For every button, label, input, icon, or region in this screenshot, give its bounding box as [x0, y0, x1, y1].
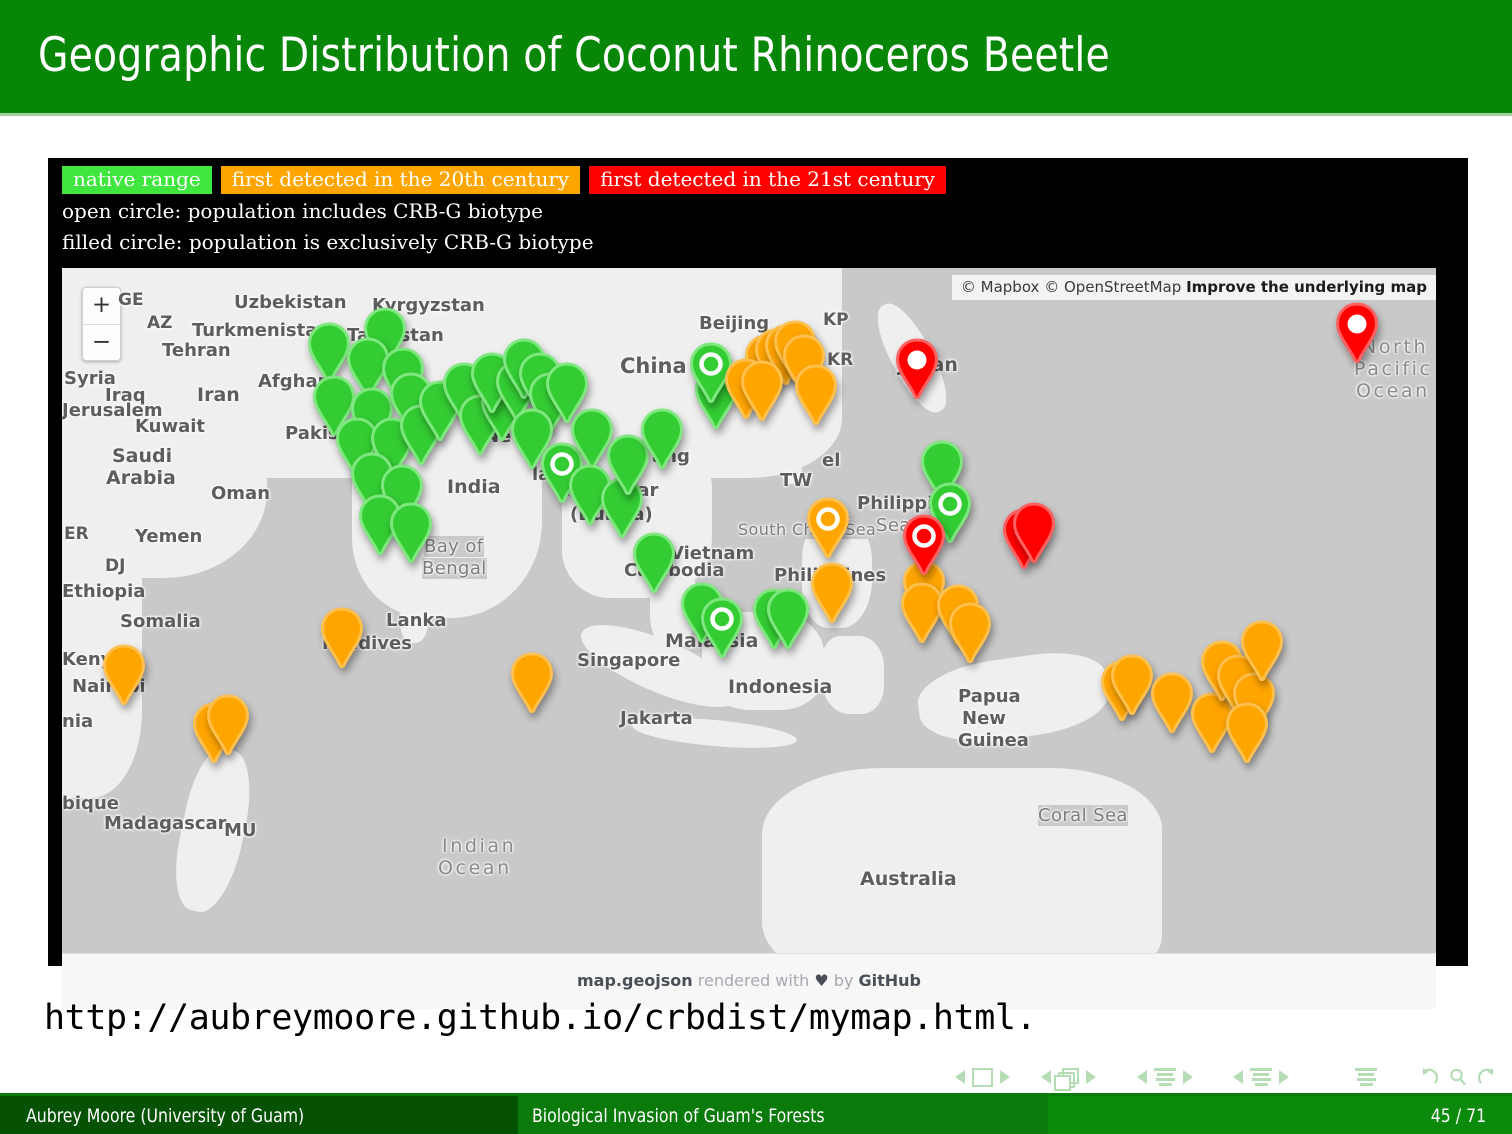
landmass-sulawesi: [822, 636, 884, 714]
next-subsection-icon[interactable]: [1183, 1070, 1193, 1084]
legend-chips: native range first detected in the 20th …: [62, 166, 1452, 194]
prev-subsection-icon[interactable]: [1137, 1070, 1147, 1084]
document-icon[interactable]: [1355, 1068, 1377, 1086]
map-marker-c20[interactable]: [805, 497, 851, 559]
zoom-control[interactable]: + −: [82, 287, 121, 361]
map-footer-text: map.geojson rendered with ♥ by GitHub: [62, 971, 1436, 990]
map-label: Indian: [442, 835, 516, 857]
nav-group-document[interactable]: [1355, 1057, 1377, 1097]
map-marker-c20[interactable]: [101, 644, 147, 706]
landmass-madagascar: [166, 743, 261, 917]
status-title-block: Biological Invasion of Guam's Forests: [518, 1096, 1048, 1134]
title-underline: [0, 113, 1512, 116]
map-marker-c21[interactable]: [894, 338, 940, 400]
slides-icon[interactable]: [1058, 1068, 1079, 1087]
status-bar: Aubrey Moore (University of Guam) Biolog…: [0, 1096, 1512, 1134]
beamer-navigation-bar[interactable]: [955, 1057, 1475, 1097]
search-icon[interactable]: [1448, 1067, 1468, 1087]
landmass-taiwan: [780, 444, 802, 484]
zoom-in-button[interactable]: +: [83, 288, 120, 324]
nav-group-subsection[interactable]: [1137, 1057, 1193, 1097]
heart-icon: ♥: [814, 971, 828, 990]
page-title: Geographic Distribution of Coconut Rhino…: [38, 28, 1110, 83]
improve-map-link[interactable]: Improve the underlying map: [1186, 278, 1427, 296]
nav-group-slide[interactable]: [1041, 1057, 1096, 1097]
map-marker-native[interactable]: [631, 532, 677, 594]
legend-note-open-circle: open circle: population includes CRB-G b…: [62, 198, 1452, 224]
map-marker-c20[interactable]: [793, 364, 839, 426]
legend-chip-native-range: native range: [62, 166, 212, 194]
map-marker-c20[interactable]: [205, 694, 251, 756]
prev-section-icon[interactable]: [1233, 1070, 1243, 1084]
status-talk-title: Biological Invasion of Guam's Forests: [532, 1105, 825, 1127]
landmass-australia: [762, 768, 1162, 953]
map-marker-c20[interactable]: [947, 602, 993, 664]
map-marker-native[interactable]: [388, 502, 434, 564]
next-section-icon[interactable]: [1279, 1070, 1289, 1084]
map-marker-native[interactable]: [765, 588, 811, 650]
map-marker-c21[interactable]: [901, 514, 947, 576]
map-marker-c20[interactable]: [1239, 620, 1285, 682]
by-text: by: [834, 971, 854, 990]
legend-note-filled-circle: filled circle: population is exclusively…: [62, 229, 1452, 255]
landmass-new-guinea: [913, 645, 1112, 751]
slide-title-bar: Geographic Distribution of Coconut Rhino…: [0, 0, 1512, 113]
map-marker-native[interactable]: [699, 597, 745, 659]
subsection-icon[interactable]: [1154, 1068, 1176, 1086]
nav-group-frame[interactable]: [955, 1057, 1010, 1097]
geojson-filename[interactable]: map.geojson: [577, 971, 693, 990]
map-url-text[interactable]: http://aubreymoore.github.io/crbdist/mym…: [44, 998, 1036, 1038]
map-marker-c20[interactable]: [809, 562, 855, 624]
status-page-block: 45 / 71: [1048, 1096, 1512, 1134]
back-icon[interactable]: [1417, 1067, 1439, 1087]
landmass-java: [631, 713, 798, 753]
zoom-out-button[interactable]: −: [83, 325, 120, 361]
github-link[interactable]: GitHub: [859, 971, 922, 990]
map-canvas[interactable]: + − © Mapbox © OpenStreetMap Improve the…: [62, 268, 1436, 953]
prev-frame-icon[interactable]: [955, 1070, 965, 1084]
legend-chip-21st-century: first detected in the 21st century: [589, 166, 946, 194]
mapbox-attribution[interactable]: © Mapbox: [961, 278, 1040, 296]
map-marker-c20[interactable]: [739, 360, 785, 422]
rendered-with-text: rendered with: [698, 971, 809, 990]
frame-icon[interactable]: [972, 1068, 993, 1087]
map-marker-native[interactable]: [639, 408, 685, 470]
map-marker-c20[interactable]: [319, 607, 365, 669]
map-marker-c21[interactable]: [1334, 302, 1380, 364]
section-icon[interactable]: [1250, 1068, 1272, 1086]
figure-panel: native range first detected in the 20th …: [48, 158, 1468, 966]
nav-group-section[interactable]: [1233, 1057, 1289, 1097]
status-author: Aubrey Moore (University of Guam): [26, 1105, 304, 1127]
map-label: Ocean: [438, 857, 512, 879]
landmass-sri-lanka: [400, 598, 428, 643]
map-widget[interactable]: + − © Mapbox © OpenStreetMap Improve the…: [62, 268, 1436, 953]
status-page-number: 45 / 71: [1431, 1105, 1486, 1127]
map-marker-c20[interactable]: [509, 652, 555, 714]
next-frame-icon[interactable]: [1000, 1070, 1010, 1084]
status-author-block: Aubrey Moore (University of Guam): [0, 1096, 518, 1134]
osm-attribution[interactable]: © OpenStreetMap: [1044, 278, 1181, 296]
map-attribution[interactable]: © Mapbox © OpenStreetMap Improve the und…: [952, 275, 1436, 300]
nav-group-history[interactable]: [1417, 1057, 1499, 1097]
next-slide-icon[interactable]: [1086, 1070, 1096, 1084]
prev-slide-icon[interactable]: [1041, 1070, 1051, 1084]
map-marker-c21[interactable]: [1011, 502, 1057, 564]
forward-icon[interactable]: [1477, 1067, 1499, 1087]
legend-chip-20th-century: first detected in the 20th century: [221, 166, 580, 194]
map-legend: native range first detected in the 20th …: [62, 166, 1452, 255]
map-marker-c20[interactable]: [1224, 702, 1270, 764]
map-label: el: [822, 450, 840, 471]
map-label: Ocean: [1356, 380, 1430, 402]
